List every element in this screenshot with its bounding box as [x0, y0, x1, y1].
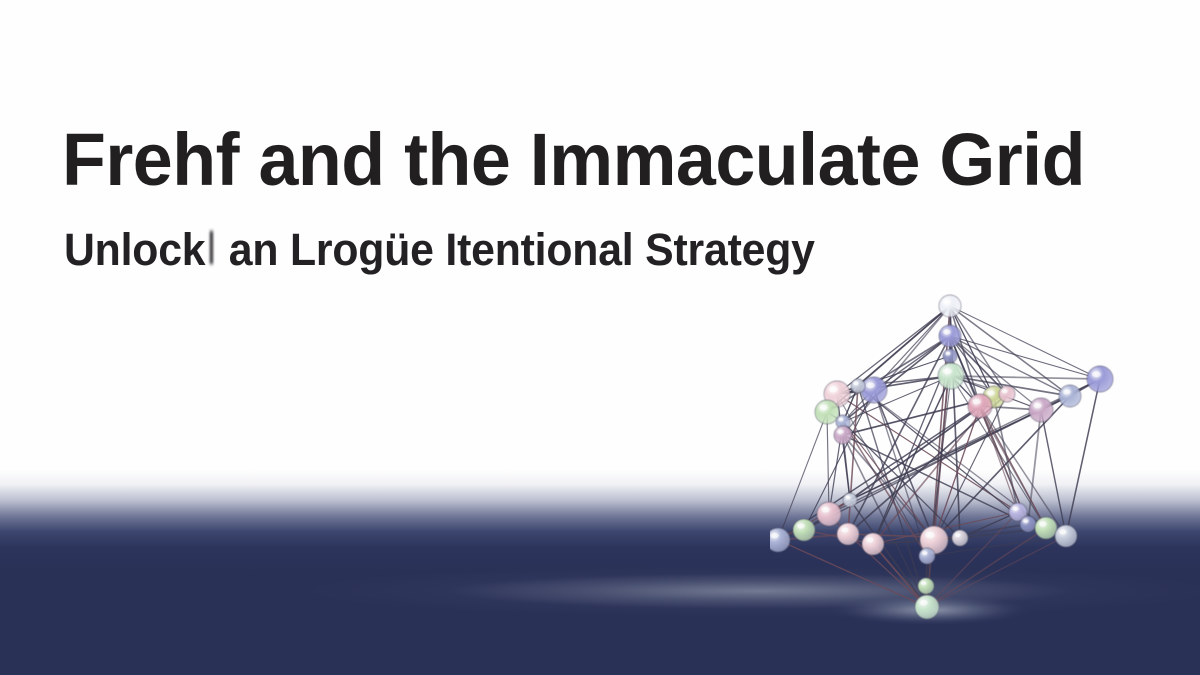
graph-node-highlight	[1023, 519, 1028, 523]
page-subtitle: Unlockl an Lrogüe Itentional Strategy	[64, 224, 1098, 276]
graph-node-highlight	[797, 523, 804, 528]
subtitle-prefix: Unlock	[64, 224, 205, 275]
graph-node	[939, 295, 961, 317]
network-graph-illustration	[770, 282, 1170, 632]
graph-node-highlight	[837, 430, 843, 434]
graph-node	[968, 394, 992, 418]
graph-node	[939, 325, 961, 347]
graph-node	[999, 386, 1015, 402]
graph-node-highlight	[854, 382, 859, 385]
graph-node-highlight	[1034, 403, 1042, 409]
subtitle-suffix: an Lrogüe Itentional Strategy	[217, 224, 815, 275]
graph-node-highlight	[1059, 529, 1066, 534]
graph-node	[843, 493, 857, 507]
graph-node	[1087, 366, 1113, 392]
graph-node-highlight	[839, 418, 844, 421]
graph-node-highlight	[943, 329, 950, 334]
graph-node-highlight	[820, 405, 828, 411]
network-graph-svg	[770, 282, 1170, 632]
graph-node	[851, 379, 865, 393]
graph-node	[862, 533, 884, 555]
graph-node	[815, 400, 839, 424]
subtitle-smudge-glyph: l	[208, 223, 215, 275]
graph-node-highlight	[973, 399, 981, 405]
graph-node	[1029, 398, 1053, 422]
graph-node-highlight	[841, 527, 848, 532]
graph-edge	[827, 412, 829, 514]
graph-node-highlight	[925, 532, 935, 539]
graph-node-highlight	[829, 386, 838, 392]
graph-node-highlight	[955, 533, 960, 537]
graph-node	[938, 363, 964, 389]
page-title: Frehf and the Immaculate Grid	[62, 118, 1119, 202]
text-block: Frehf and the Immaculate Grid Unlockl an…	[62, 118, 1152, 276]
graph-node-highlight	[1092, 371, 1101, 377]
graph-node-highlight	[920, 600, 928, 606]
graph-node	[834, 426, 852, 444]
slide-canvas: Frehf and the Immaculate Grid Unlockl an…	[0, 0, 1200, 675]
graph-node-highlight	[922, 551, 927, 555]
graph-node-highlight	[987, 390, 994, 395]
graph-edge	[927, 512, 1018, 607]
graph-node-highlight	[921, 581, 926, 585]
graph-node	[918, 578, 934, 594]
graph-node-highlight	[943, 368, 952, 374]
graph-edges	[778, 306, 1100, 607]
graph-node-highlight	[943, 299, 950, 304]
graph-edge	[927, 536, 1066, 607]
graph-node	[861, 377, 887, 403]
graph-node-highlight	[846, 496, 851, 499]
graph-node-highlight	[1002, 389, 1007, 393]
graph-node	[952, 530, 968, 546]
graph-edge	[951, 376, 1100, 379]
graph-node-highlight	[946, 352, 951, 355]
graph-node	[1055, 525, 1077, 547]
graph-node-highlight	[866, 537, 873, 542]
graph-node-highlight	[771, 533, 779, 539]
graph-node	[919, 548, 935, 564]
graph-node-highlight	[1063, 389, 1070, 394]
graph-node	[837, 523, 859, 545]
graph-edge	[843, 306, 950, 422]
graph-node	[1035, 517, 1057, 539]
graph-node	[1020, 516, 1036, 532]
graph-node	[915, 595, 939, 619]
graph-node-highlight	[1039, 521, 1046, 526]
graph-node	[943, 349, 957, 363]
graph-node	[1059, 385, 1081, 407]
graph-node	[793, 519, 815, 541]
graph-edge	[778, 540, 927, 607]
graph-node	[817, 502, 841, 526]
graph-node	[770, 528, 790, 552]
graph-node-highlight	[866, 382, 875, 388]
graph-node-highlight	[1012, 507, 1018, 511]
graph-node-highlight	[822, 507, 830, 513]
